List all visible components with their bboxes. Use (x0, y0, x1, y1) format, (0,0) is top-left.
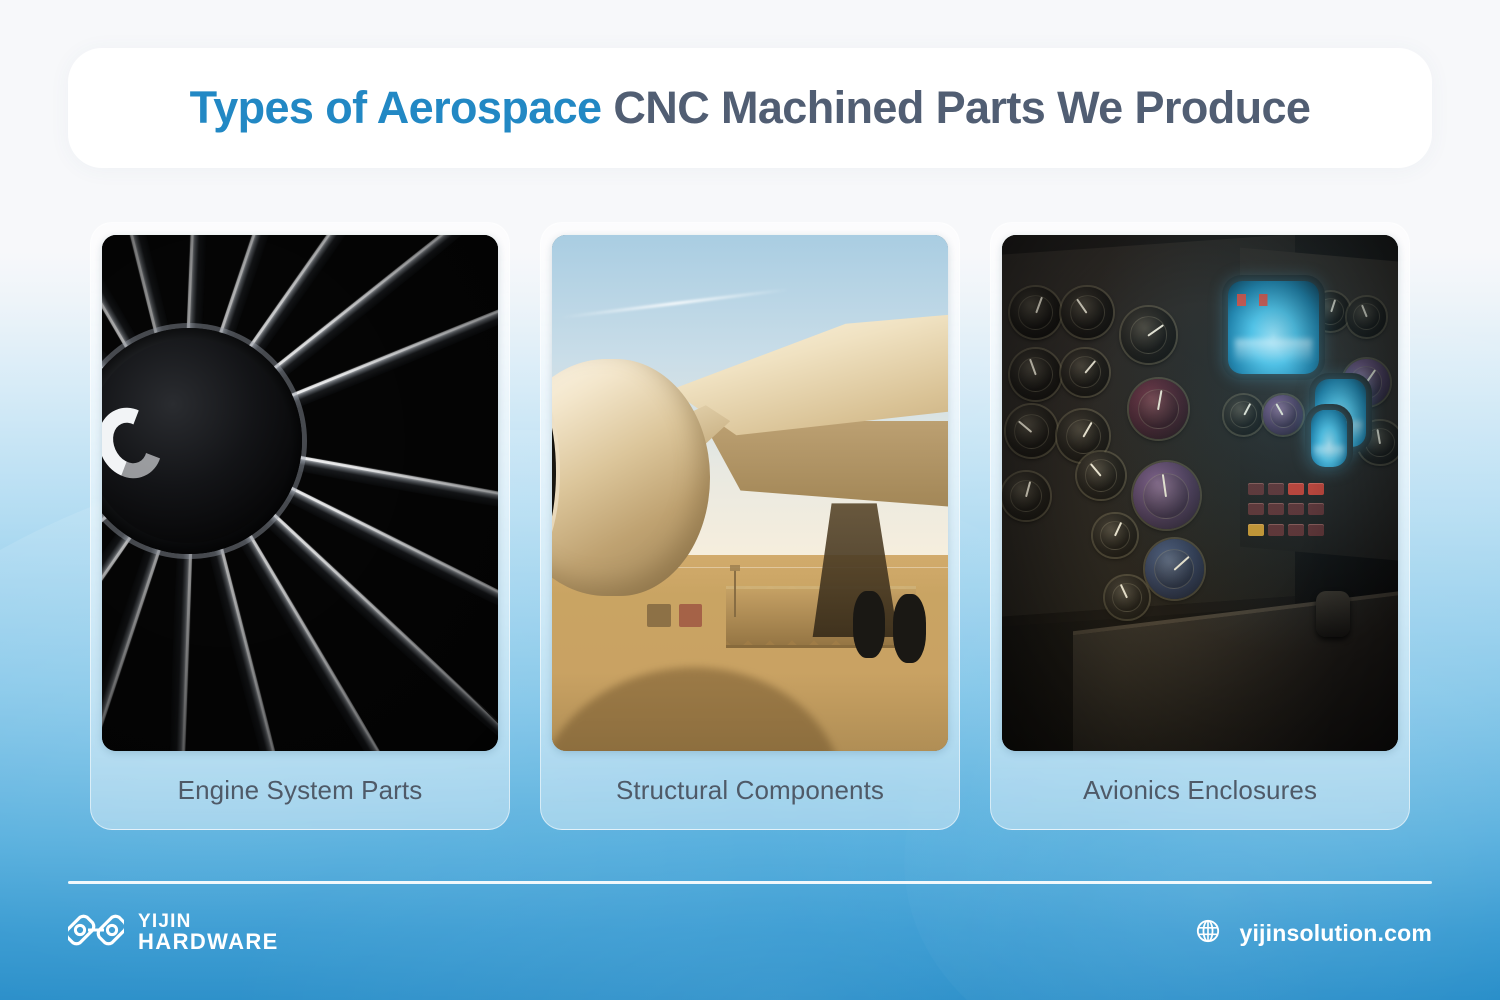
card-engine-system-parts[interactable]: Engine System Parts (90, 222, 510, 830)
turbine-illustration (102, 235, 498, 751)
aircraft-wing-tarmac-photo (552, 235, 948, 751)
card-label-engine-system-parts: Engine System Parts (178, 751, 423, 829)
ground-vehicle-1 (647, 604, 671, 627)
cockpit-illustration (1002, 235, 1398, 751)
turbine-vignette (102, 235, 498, 751)
card-avionics-enclosures[interactable]: Avionics Enclosures (990, 222, 1410, 830)
jet-engine-turbine-fan-photo (102, 235, 498, 751)
website-lockup[interactable]: yijinsolution.com (1195, 918, 1432, 949)
website-url[interactable]: yijinsolution.com (1239, 920, 1432, 947)
brand-name-bottom: HARDWARE (138, 931, 279, 953)
card-structural-components[interactable]: Structural Components (540, 222, 960, 830)
landing-gear-tire-1 (853, 591, 885, 658)
page-title: Types of Aerospace CNC Machined Parts We… (190, 82, 1311, 134)
page-title-accent: Types of Aerospace (190, 82, 602, 133)
card-label-avionics-enclosures: Avionics Enclosures (1083, 751, 1317, 829)
yijin-infinity-logo (68, 913, 124, 952)
page-title-main: CNC Machined Parts We Produce (602, 82, 1311, 133)
card-row: Engine System Parts (90, 222, 1410, 830)
card-label-structural-components: Structural Components (616, 751, 884, 829)
title-banner: Types of Aerospace CNC Machined Parts We… (68, 48, 1432, 168)
cockpit-vignette (1002, 235, 1398, 751)
brand-lockup: YIJIN HARDWARE (68, 912, 279, 953)
ground-vehicle-2 (679, 604, 703, 627)
brand-text: YIJIN HARDWARE (138, 912, 279, 953)
airport-illustration (552, 235, 948, 751)
footer-divider (68, 881, 1432, 884)
globe-icon (1195, 918, 1221, 949)
landing-gear-tire-2 (893, 594, 927, 664)
infographic-canvas: Types of Aerospace CNC Machined Parts We… (0, 0, 1500, 1000)
cockpit-instrument-panel-photo (1002, 235, 1398, 751)
light-mast (734, 570, 736, 616)
